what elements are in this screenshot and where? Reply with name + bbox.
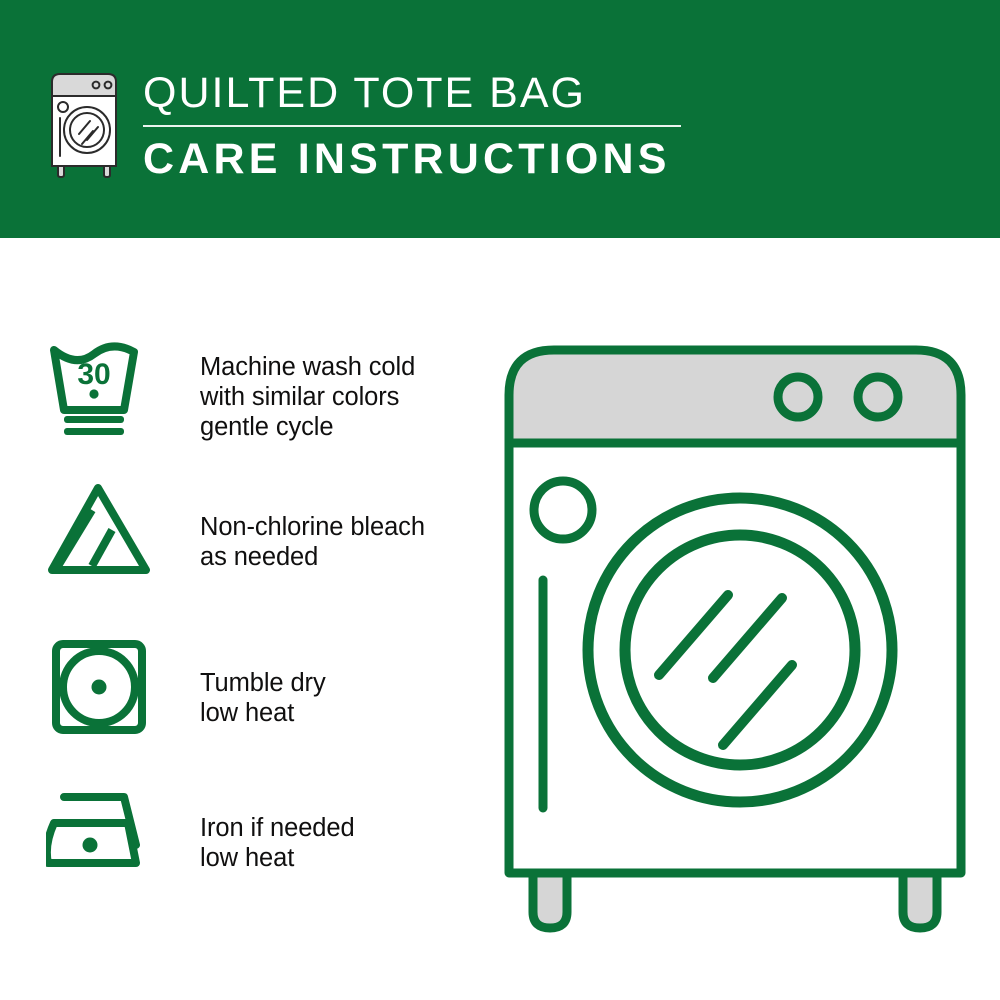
care-item-machine-wash: 30 Machine wash cold with similar colors… bbox=[0, 338, 500, 458]
header-titles: QUILTED TOTE BAG CARE INSTRUCTIONS bbox=[143, 68, 703, 185]
iron-low-heat-icon bbox=[46, 783, 166, 893]
svg-text:30: 30 bbox=[77, 358, 110, 391]
care-item-bleach: Non-chlorine bleach as needed bbox=[0, 478, 500, 598]
care-item-label: Non-chlorine bleach as needed bbox=[200, 512, 425, 572]
non-chlorine-bleach-triangle-icon bbox=[46, 478, 166, 588]
care-item-tumble-dry: Tumble dry low heat bbox=[0, 638, 500, 758]
tumble-dry-low-icon bbox=[46, 638, 166, 748]
care-item-iron: Iron if needed low heat bbox=[0, 783, 500, 903]
washing-machine-icon bbox=[46, 70, 122, 178]
care-item-label: Machine wash cold with similar colors ge… bbox=[200, 352, 415, 442]
care-instructions-page: QUILTED TOTE BAG CARE INSTRUCTIONS 30 bbox=[0, 0, 1000, 1000]
page-subtitle: CARE INSTRUCTIONS bbox=[143, 133, 703, 185]
care-item-label: Iron if needed low heat bbox=[200, 813, 355, 873]
title-divider bbox=[143, 125, 681, 127]
page-title: QUILTED TOTE BAG bbox=[143, 68, 703, 118]
care-item-label: Tumble dry low heat bbox=[200, 668, 326, 728]
header-band: QUILTED TOTE BAG CARE INSTRUCTIONS bbox=[0, 0, 1000, 238]
washing-machine-illustration bbox=[495, 330, 975, 940]
wash-tub-30-icon: 30 bbox=[46, 338, 166, 448]
care-instruction-list: 30 Machine wash cold with similar colors… bbox=[0, 238, 500, 1000]
